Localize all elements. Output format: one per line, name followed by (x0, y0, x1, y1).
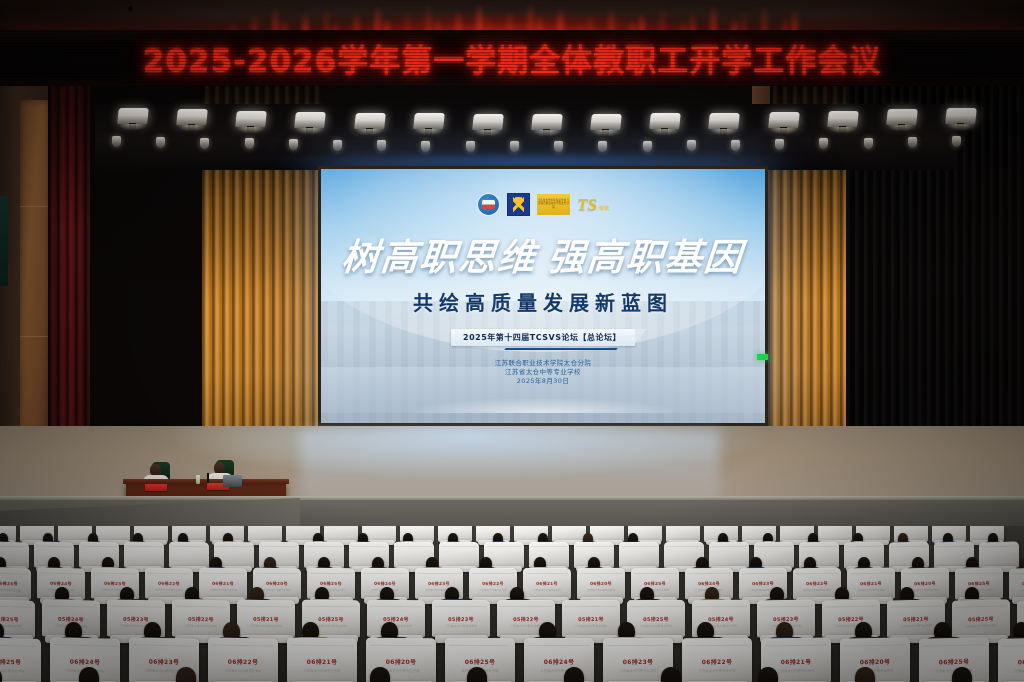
audience-seat-cover: 05排21号江苏省太仓中等专业学校 (562, 600, 620, 637)
seat-school-label: 江苏省太仓中等专业学校 (952, 624, 1010, 629)
exit-sign-icon (757, 354, 768, 360)
audience-seat-cover: 05排21号江苏省太仓中等专业学校 (237, 600, 295, 638)
seat-number: 06排20号 (840, 656, 910, 666)
seat-cover-fold (171, 546, 206, 548)
seat-school-label: 江苏省太仓中等专业学校 (172, 624, 230, 629)
seat-cover-fold (576, 546, 611, 547)
seat-cover-fold (36, 546, 71, 548)
seat-number: 05排21号 (237, 615, 295, 623)
seat-school-label: 江苏省太仓中等专业学校 (631, 588, 679, 592)
audience-seating: 06排25号江苏省太仓中等专业学校06排24号江苏省太仓中等专业学校06排23号… (0, 526, 1024, 682)
audience-member-head (79, 667, 99, 682)
seat-cover-fold (756, 546, 791, 547)
seat-cover-fold (981, 546, 1016, 548)
audience-seat-cover: 06排25号江苏省太仓中等专业学校 (955, 567, 1003, 599)
seat-cover-fold (306, 546, 341, 547)
seat-cover-fold (0, 605, 32, 607)
audience-seat-cover: 06排25号江苏省太仓中等专业学校 (631, 568, 679, 599)
seat-cover-fold (891, 546, 926, 548)
audience-member-head (855, 667, 875, 682)
audience-seat-cover (124, 542, 164, 569)
school-circular-emblem-icon (477, 193, 500, 216)
seat-cover-fold (688, 573, 730, 574)
slide-logo-row: 江苏省太仓中等专业学校 江苏联合职业技术学院太仓分院 TS 论坛 (477, 193, 609, 215)
seat-cover-fold (54, 644, 116, 647)
seat-school-label: 江苏省太仓中等专业学校 (237, 624, 295, 629)
projection-screen: 江苏省太仓中等专业学校 江苏联合职业技术学院太仓分院 TS 论坛 树高职思维 强… (318, 166, 768, 426)
seat-cover-fold (565, 606, 616, 607)
audience-seat-cover: 05排25号江苏省太仓中等专业学校 (952, 599, 1010, 637)
seat-cover-fold (0, 572, 28, 574)
mascot-emblem-icon (507, 193, 530, 216)
ts-forum-logo-icon: TS 论坛 (577, 196, 609, 213)
projection-screen-surface: 江苏省太仓中等专业学校 江苏联合职业技术学院太仓分院 TS 论坛 树高职思维 强… (321, 169, 765, 423)
seat-number: 06排25号 (919, 656, 989, 667)
seat-number: 06排20号 (253, 581, 301, 588)
seat-cover-fold (765, 645, 827, 647)
seat-cover-fold (825, 605, 876, 607)
seat-cover-fold (796, 573, 838, 575)
seat-number: 06排21号 (761, 656, 831, 666)
stage-light-body (709, 113, 741, 129)
organizer-line-2: 江苏省太仓中等专业学校 (495, 368, 592, 377)
stage-spotlight-small (466, 141, 475, 152)
stage-light-body (945, 108, 977, 124)
stage-spotlight-small (200, 138, 209, 149)
seat-number: 06排25号 (0, 656, 41, 667)
stage-spotlight-small (598, 141, 607, 152)
audience-seat-cover: 06排25号江苏省太仓中等专业学校 (0, 637, 41, 682)
stage-light (295, 112, 325, 132)
stage-light (177, 109, 207, 129)
seat-school-label: 江苏省太仓中等专业学校 (524, 668, 594, 673)
seat-number: 06排23号 (739, 581, 787, 588)
seat-cover-fold (580, 573, 622, 574)
stage-spotlight-small (731, 140, 740, 151)
seat-cover-fold (923, 645, 985, 647)
seat-cover-fold (526, 573, 568, 574)
gold-text-block-icon: 江苏省太仓中等专业学校 江苏联合职业技术学院太仓分院 (537, 194, 570, 215)
led-banner: 2025-2026学年第一学期全体教职工开学工作会议 (0, 30, 1024, 86)
slide-date: 2025年8月30日 (495, 377, 592, 386)
seat-school-label: 江苏省太仓中等专业学校 (432, 624, 490, 628)
seat-number: 06排22号 (208, 656, 278, 666)
seat-cover-fold (110, 605, 161, 607)
seat-number: 06排25号 (307, 581, 355, 588)
seat-cover-fold (711, 546, 746, 547)
seat-number: 06排22号 (145, 581, 193, 588)
seat-cover-fold (621, 546, 656, 547)
seat-cover-fold (0, 546, 27, 548)
seat-cover-fold (1012, 572, 1024, 574)
audience-member-head (467, 667, 487, 682)
stage-light-body (827, 111, 859, 127)
seat-cover-fold (305, 606, 356, 608)
seat-number: 06排20号 (366, 657, 436, 667)
audience-seat-cover (709, 542, 749, 568)
seat-cover-fold (256, 573, 298, 575)
audience-seat-cover (979, 541, 1019, 568)
seat-number: 06排21号 (523, 581, 571, 587)
stage-light (414, 113, 444, 133)
audience-member-head (176, 667, 196, 682)
seat-school-label: 江苏省太仓中等专业学校 (955, 588, 1003, 593)
audience-seat-cover (439, 542, 479, 568)
wall-seam (20, 206, 50, 207)
audience-seat-cover: 06排24号江苏省太仓中等专业学校 (998, 637, 1024, 682)
seat-number: 05排23号 (432, 615, 490, 622)
microphone-stand (207, 473, 209, 483)
audience-seat-cover: 06排22号江苏省太仓中等专业学校 (793, 568, 841, 600)
stage-spotlight-small (333, 140, 342, 151)
ceiling-fixture-dot (128, 6, 133, 11)
seat-number: 05排24号 (692, 615, 750, 623)
stage-spotlight-small (952, 136, 961, 147)
stage-light-glow (940, 124, 982, 142)
seat-number: 06排24号 (50, 656, 120, 667)
stage-light-body (295, 112, 327, 128)
seat-cover-fold (500, 606, 551, 607)
seat-number: 05排25号 (952, 615, 1010, 623)
wall-seam (20, 336, 50, 337)
stage-spotlight-small (908, 137, 917, 148)
audience-seat-cover: 06排21号江苏省太仓中等专业学校 (199, 568, 247, 600)
seat-number: 05排24号 (367, 615, 425, 622)
seat-number: 06排25号 (631, 581, 679, 587)
seat-cover-fold (126, 546, 161, 548)
stage-light (473, 114, 503, 134)
seat-school-label: 江苏省太仓中等专业学校 (199, 588, 247, 593)
seat-number: 06排25号 (0, 580, 31, 587)
stage-spotlight-small (510, 141, 519, 152)
seat-school-label: 江苏省太仓中等专业学校 (577, 588, 625, 592)
audience-seat-cover: 06排21号江苏省太仓中等专业学校 (847, 568, 895, 600)
seat-cover-fold (94, 572, 136, 574)
seat-cover-fold (742, 573, 784, 575)
audience-member-head (758, 667, 778, 682)
stage-light-body (117, 108, 149, 124)
seat-cover-fold (846, 546, 881, 548)
seat-cover-fold (435, 606, 486, 607)
seat-cover-fold (955, 605, 1006, 607)
seat-cover-fold (81, 546, 116, 548)
organizer-line-1: 江苏联合职业技术学院太仓分院 (495, 359, 592, 368)
seat-cover-fold (528, 645, 590, 646)
audience-seat-cover (169, 542, 209, 569)
stage-light-body (176, 109, 208, 125)
wall-artwork (0, 196, 8, 286)
stage-light (650, 113, 680, 133)
stage-light-body (472, 114, 504, 130)
stage-light (591, 114, 621, 134)
seat-number: 06排24号 (1009, 580, 1024, 587)
seat-number: 06排22号 (469, 581, 517, 587)
seat-cover-fold (607, 645, 669, 646)
stage-spotlight-small (864, 138, 873, 149)
seat-cover-fold (240, 606, 291, 608)
seat-number: 05排25号 (0, 615, 35, 624)
seat-cover-fold (133, 645, 195, 647)
seat-number: 06排21号 (199, 581, 247, 588)
left-wall-wood-panel (20, 100, 50, 472)
seat-school-label: 江苏省太仓中等专业学校 (0, 588, 31, 593)
audience-member-head (370, 667, 390, 682)
stage-light (828, 111, 858, 131)
seat-school-label: 江苏省太仓中等专业学校 (0, 624, 35, 630)
seat-number: 06排23号 (91, 580, 139, 587)
audience-member-head (952, 667, 972, 682)
audience-member-head (661, 667, 681, 682)
seat-number: 06排23号 (415, 581, 463, 587)
stage-light-body (649, 113, 681, 129)
seat-school-label: 江苏省太仓中等专业学校 (523, 588, 571, 592)
seat-school-label: 江苏省太仓中等专业学校 (1009, 588, 1024, 593)
ts-mark: TS (577, 196, 597, 213)
audience-seat-cover (619, 542, 659, 568)
seat-cover-fold (202, 573, 244, 575)
audience-seat-cover: 06排21号江苏省太仓中等专业学校 (523, 568, 571, 599)
seat-cover-fold (216, 546, 251, 548)
seat-school-label: 江苏省太仓中等专业学校 (840, 667, 910, 673)
seat-cover-fold (175, 605, 226, 607)
stage-spotlight-small (554, 141, 563, 152)
audience-seat-cover: 06排20号江苏省太仓中等专业学校 (840, 637, 910, 682)
seat-cover-fold (1002, 644, 1024, 647)
seat-cover-fold (351, 546, 386, 547)
seat-school-label: 江苏省太仓中等专业学校 (847, 588, 895, 593)
seat-number: 06排22号 (682, 657, 752, 667)
seat-number: 06排20号 (577, 581, 625, 587)
seat-school-label: 江苏省太仓中等专业学校 (562, 624, 620, 628)
seat-cover-fold (531, 546, 566, 547)
seat-number: 05排22号 (172, 615, 230, 623)
seat-number: 05排21号 (887, 615, 945, 623)
seat-cover-fold (936, 546, 971, 548)
stage-floor-reflection (300, 430, 720, 504)
stage-light-body (354, 113, 386, 129)
seat-school-label: 江苏省太仓中等专业学校 (682, 667, 752, 673)
seat-cover-fold (364, 573, 406, 574)
seat-number: 06排21号 (287, 656, 357, 666)
seat-cover-fold (904, 573, 946, 575)
stage-light-body (531, 114, 563, 130)
seat-number: 06排21号 (847, 581, 895, 588)
audience-seat-cover: 06排20号江苏省太仓中等专业学校 (577, 568, 625, 599)
stage-spotlight-small (156, 137, 165, 148)
led-banner-text: 2025-2026学年第一学期全体教职工开学工作会议 (0, 36, 1024, 81)
name-plate-left (145, 484, 167, 491)
slide-organizers: 江苏联合职业技术学院太仓分院 江苏省太仓中等专业学校 2025年8月30日 (495, 359, 592, 386)
seat-number: 06排23号 (603, 657, 673, 666)
stage-light-body (235, 111, 267, 127)
stage-light (709, 113, 739, 133)
stage-light-body (590, 114, 622, 130)
seat-cover-fold (844, 645, 906, 647)
seat-school-label: 江苏省太仓中等专业学校 (998, 667, 1024, 674)
auditorium-photo: 2025-2026学年第一学期全体教职工开学工作会议 (0, 0, 1024, 682)
seat-cover-fold (370, 645, 432, 646)
seat-school-label: 江苏省太仓中等专业学校 (793, 588, 841, 593)
stage-light-body (768, 112, 800, 128)
stage-spotlight-small (687, 140, 696, 151)
audience-member-head (564, 667, 584, 682)
seat-number: 05排22号 (822, 615, 880, 623)
seat-cover-fold (212, 645, 274, 647)
slide-forum-tag: 2025年第十四届TCSVS论坛【总论坛】 (451, 329, 635, 346)
seat-cover-fold (291, 645, 353, 647)
stage-light (236, 111, 266, 131)
seat-cover-fold (370, 606, 421, 607)
seat-cover-fold (441, 546, 476, 547)
audience-seat-cover: 05排23号江苏省太仓中等专业学校 (432, 600, 490, 637)
stage-spotlight-small (421, 141, 430, 152)
seat-number: 06排25号 (445, 657, 515, 666)
seat-number: 06排24号 (998, 656, 1024, 667)
seat-cover-fold (850, 573, 892, 575)
seat-cover-fold (666, 546, 701, 547)
laptop (223, 475, 242, 487)
seat-cover-fold (261, 546, 296, 547)
audience-seat-cover: 06排22号江苏省太仓中等专业学校 (208, 637, 278, 682)
seat-cover-fold (396, 546, 431, 547)
seat-cover-fold (890, 605, 941, 607)
stage-light-body (886, 109, 918, 125)
water-bottle (196, 475, 200, 484)
seat-cover-fold (958, 572, 1000, 574)
seat-cover-fold (418, 573, 460, 574)
seat-cover-fold (0, 644, 37, 647)
audience-seat-cover: 06排22号江苏省太仓中等专业学校 (682, 638, 752, 682)
seat-cover-fold (634, 573, 676, 574)
seat-cover-fold (686, 645, 748, 647)
stage-light (887, 109, 917, 129)
seat-cover-fold (40, 572, 82, 574)
seat-cover-fold (630, 606, 681, 607)
seat-cover-fold (760, 606, 811, 608)
hall-body: 江苏省太仓中等专业学校 江苏联合职业技术学院太仓分院 TS 论坛 树高职思维 强… (0, 86, 1024, 682)
ts-sub-label: 论坛 (599, 205, 609, 212)
stage-light (769, 112, 799, 132)
seat-cover-fold (801, 546, 836, 548)
seat-school-label: 江苏省太仓中等专业学校 (627, 624, 685, 628)
stage-light (118, 108, 148, 128)
seat-number: 05排21号 (562, 615, 620, 622)
audience-seat-cover: 06排24号江苏省太仓中等专业学校 (1009, 567, 1024, 599)
seat-cover-fold (472, 573, 514, 574)
seat-cover-fold (449, 645, 511, 646)
seat-cover-fold (486, 546, 521, 547)
stage-spotlight-small (643, 141, 652, 152)
seat-cover-fold (1020, 605, 1024, 607)
slide-headline: 树高职思维 强高职基因 (340, 227, 746, 281)
audience-seat-cover: 05排25号江苏省太仓中等专业学校 (0, 599, 35, 638)
stage-spotlight-small (245, 138, 254, 149)
seat-cover-fold (148, 573, 190, 575)
gold-block-label: 江苏省太仓中等专业学校 江苏联合职业技术学院太仓分院 (537, 199, 570, 209)
stage-spotlight-small (775, 139, 784, 150)
slide-subheadline: 共绘高质量发展新蓝图 (413, 287, 673, 316)
stage-spotlight-small (112, 136, 121, 147)
seat-cover-fold (695, 606, 746, 607)
slide-tag-rule (504, 348, 618, 350)
audience-seat-cover: 05排25号江苏省太仓中等专业学校 (627, 600, 685, 637)
seat-number: 05排25号 (627, 615, 685, 622)
seat-cover-fold (45, 605, 96, 607)
stage-light-body (413, 113, 445, 129)
audience-seat-cover: 06排25号江苏省太仓中等专业学校 (0, 567, 31, 599)
stage-light (355, 113, 385, 133)
seat-school-label: 江苏省太仓中等专业学校 (208, 667, 278, 673)
seat-number: 06排22号 (793, 581, 841, 588)
stage-light (532, 114, 562, 134)
seat-number: 06排24号 (524, 657, 594, 666)
audience-seat-cover: 05排22号江苏省太仓中等专业学校 (172, 599, 230, 637)
stage-light (946, 108, 976, 128)
seat-number: 06排23号 (129, 656, 199, 666)
seat-number: 06排24号 (685, 581, 733, 587)
stage-apron-edge (0, 496, 1024, 500)
seat-school-label: 江苏省太仓中等专业学校 (287, 667, 357, 673)
stage-spotlight-small (289, 139, 298, 150)
slide-content: 江苏省太仓中等专业学校 江苏联合职业技术学院太仓分院 TS 论坛 树高职思维 强… (321, 169, 765, 423)
seat-number: 06排25号 (955, 580, 1003, 587)
audience-seat-cover: 06排21号江苏省太仓中等专业学校 (287, 638, 357, 682)
seat-school-label: 江苏省太仓中等专业学校 (0, 667, 41, 674)
seat-cover-fold (310, 573, 352, 574)
